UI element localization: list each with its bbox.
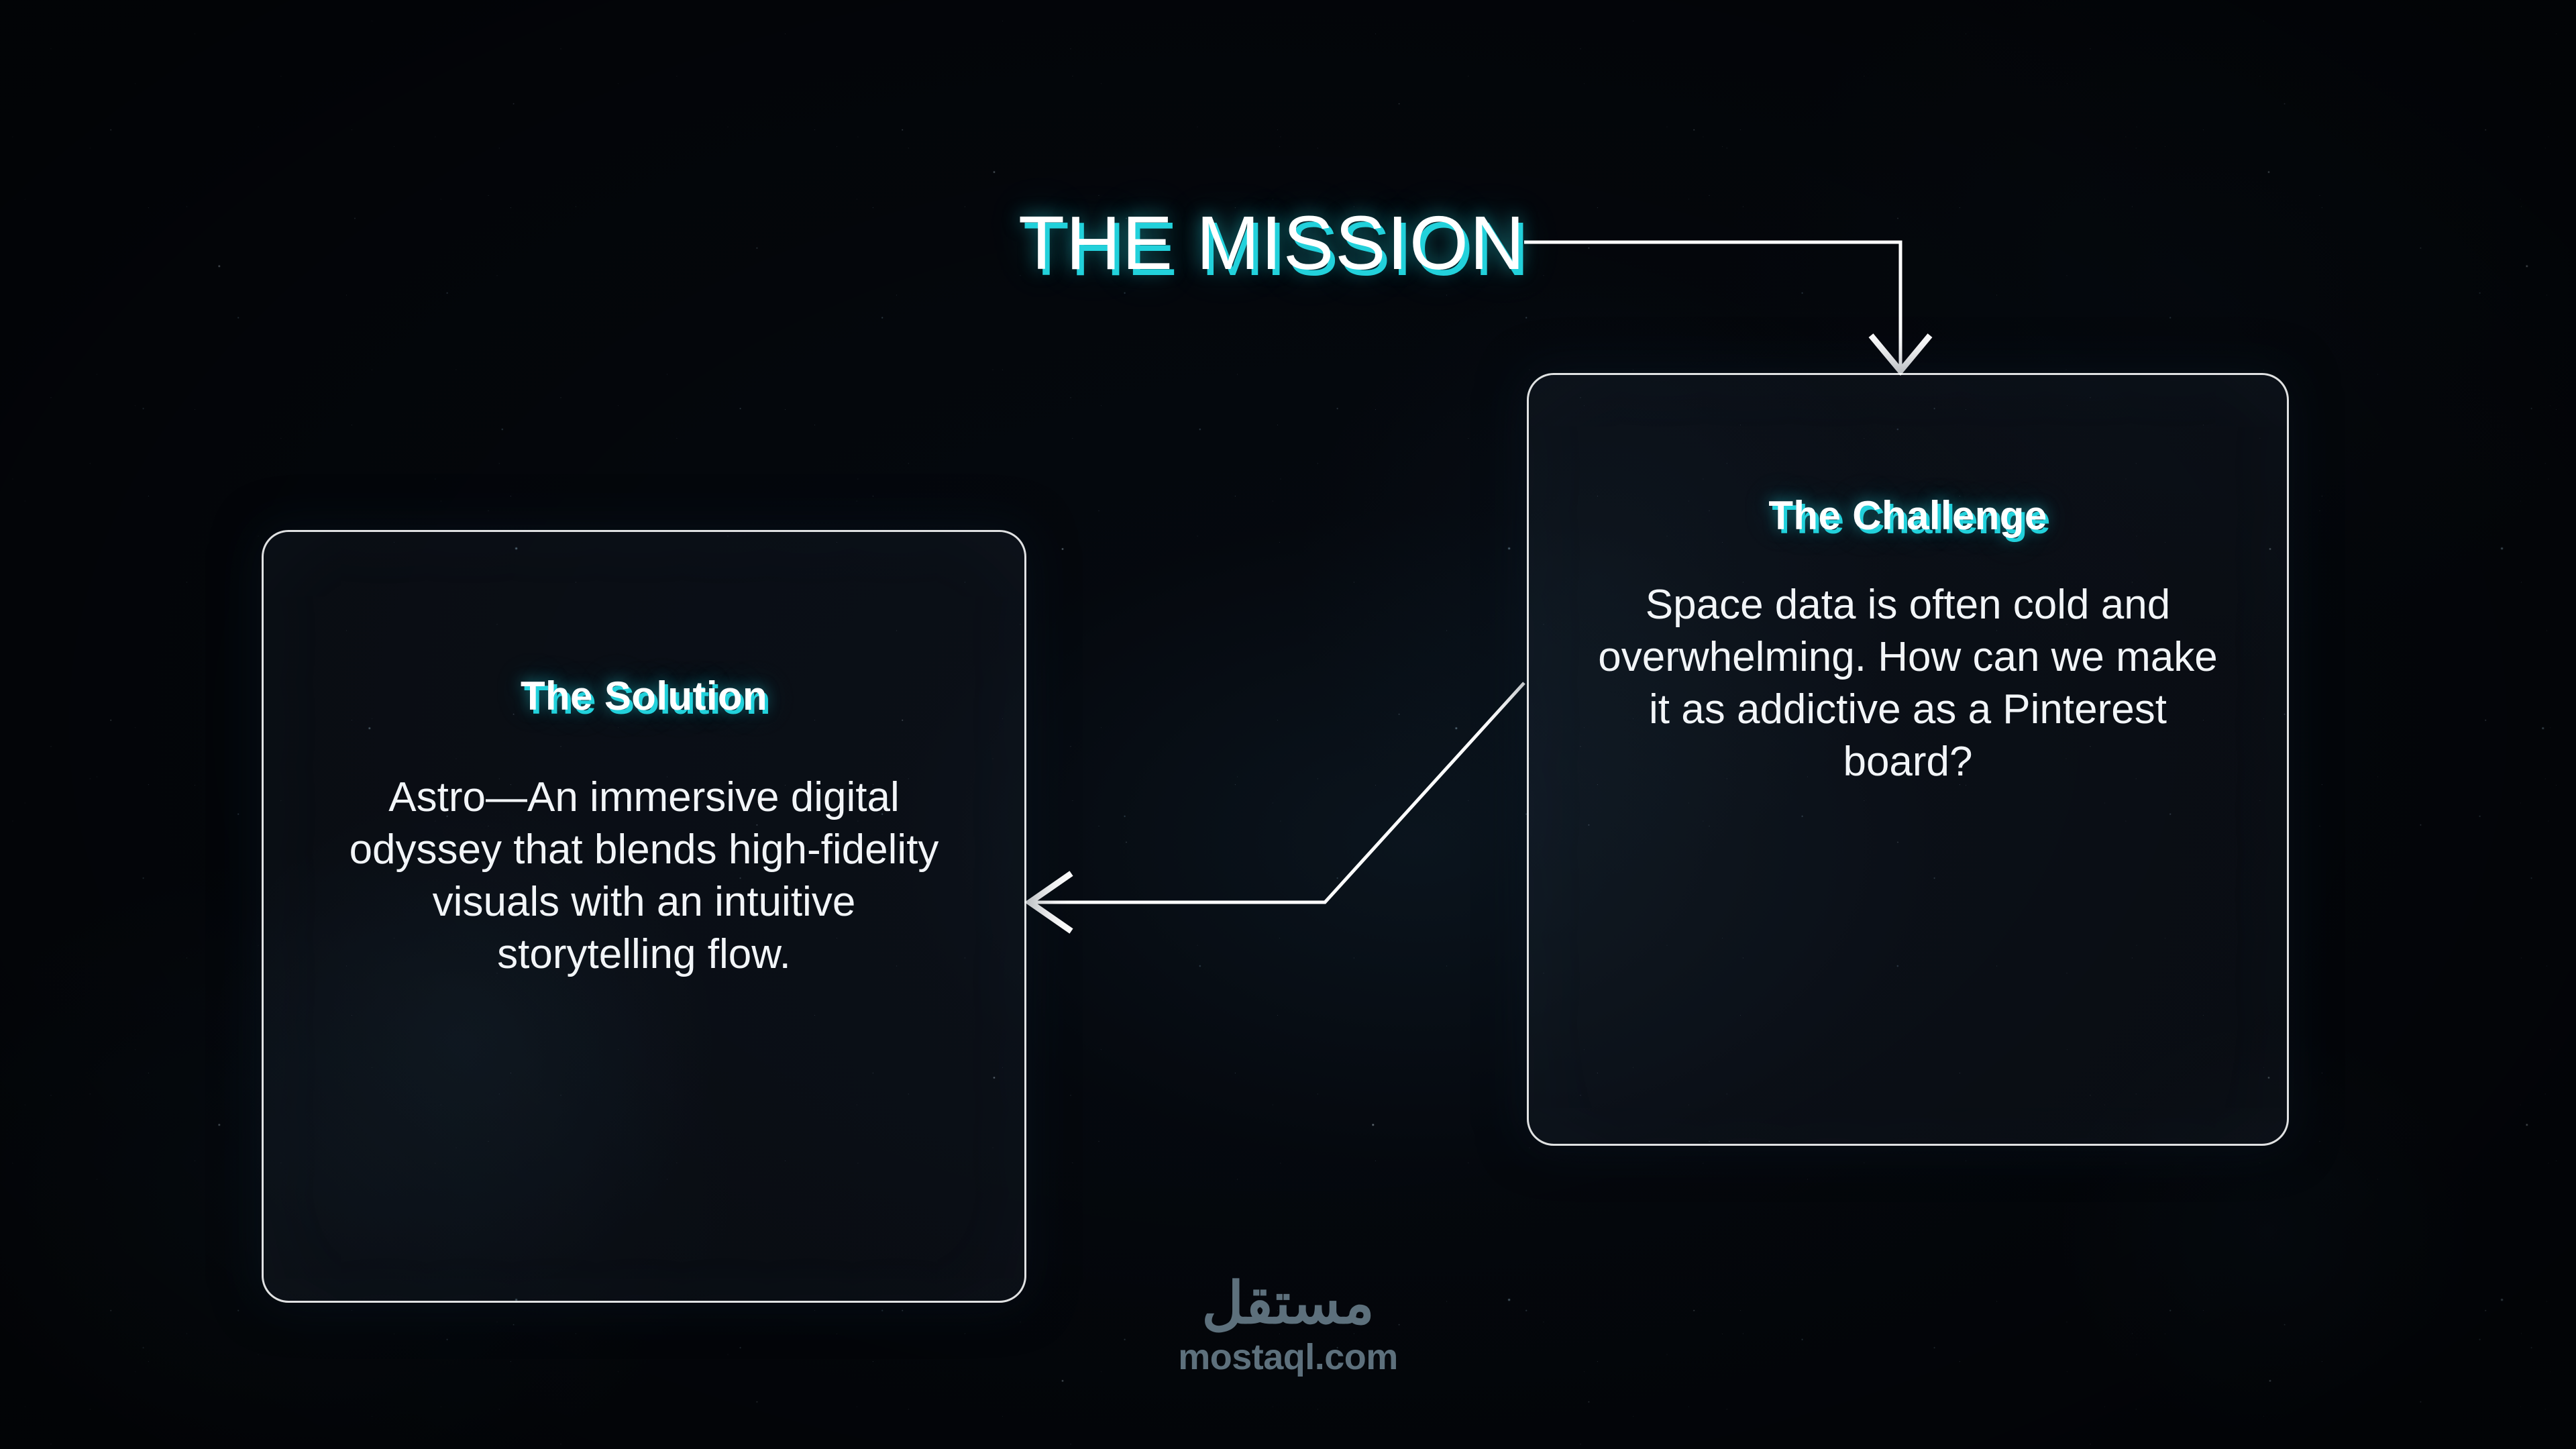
arrow-title-to-challenge xyxy=(1524,242,1930,371)
card-solution-heading: The Solution xyxy=(521,673,767,719)
watermark-arabic-wordmark: مستقل xyxy=(1201,1275,1374,1332)
watermark-domain-text: mostaql.com xyxy=(1178,1339,1398,1375)
card-challenge-body: Space data is often cold and overwhelmin… xyxy=(1586,579,2230,788)
card-solution[interactable]: The Solution Astro—An immersive digital … xyxy=(262,530,1026,1303)
mostaql-watermark: مستقل mostaql.com xyxy=(1134,1275,1442,1375)
card-solution-body: Astro—An immersive digital odyssey that … xyxy=(342,771,946,981)
slide-canvas: THE MISSION The Challenge Space data is … xyxy=(0,0,2576,1449)
arrow-challenge-to-solution xyxy=(1030,683,1524,931)
card-challenge[interactable]: The Challenge Space data is often cold a… xyxy=(1527,373,2289,1146)
card-challenge-heading: The Challenge xyxy=(1768,492,2047,539)
slide-title: THE MISSION xyxy=(1018,199,1526,286)
